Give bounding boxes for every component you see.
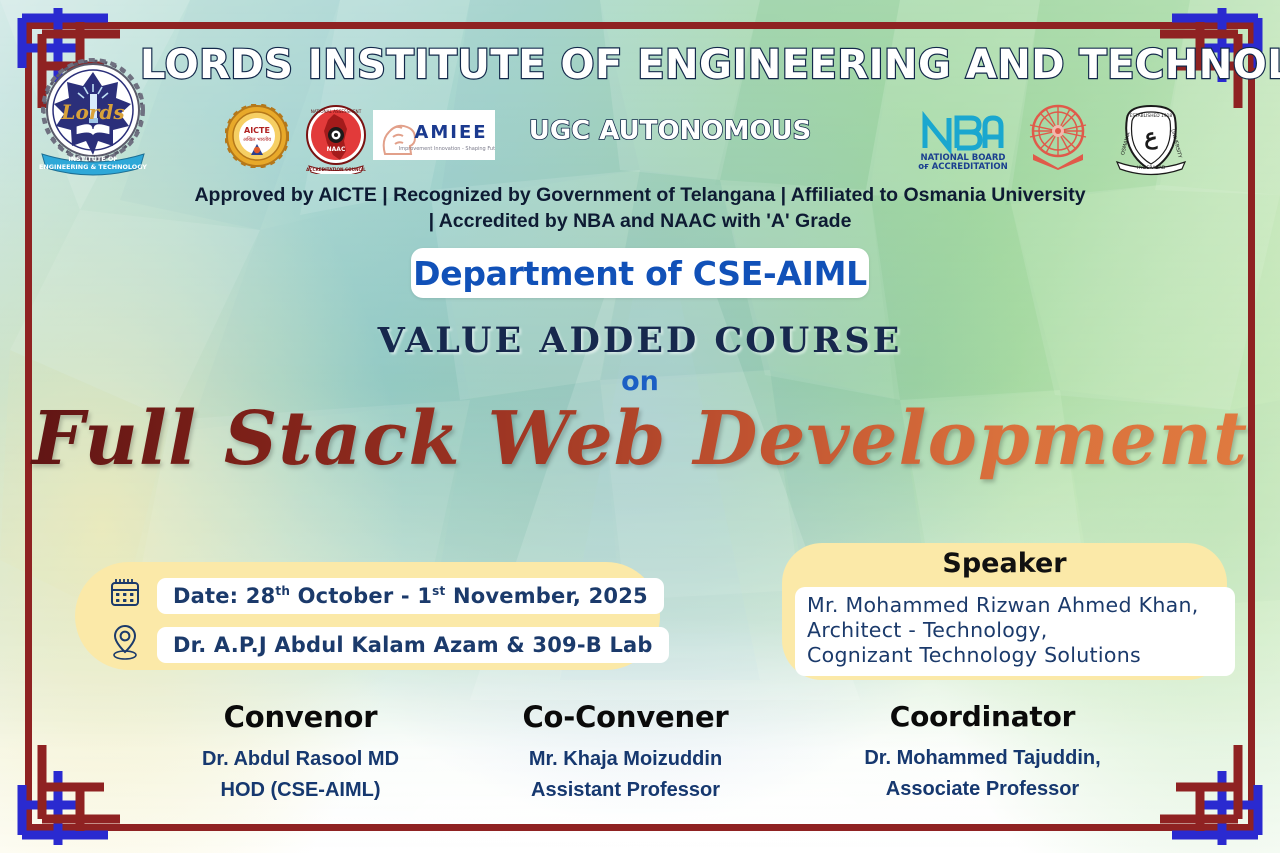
organizer-name-line-2: Associate Professor — [816, 774, 1149, 805]
organizer-coordinator: Coordinator Dr. Mohammed Tajuddin, Assoc… — [816, 700, 1149, 806]
lords-logo: Lords INSTITUTE OF ENGINEERING & TECHNOL… — [32, 56, 154, 178]
corner-ornament-bottom-right — [1154, 739, 1272, 849]
approval-line-2: | Accredited by NBA and NAAC with 'A' Gr… — [120, 208, 1160, 234]
date-venue-card: Date: 28th October - 1st November, 2025 … — [75, 562, 660, 670]
department-label: Department of CSE-AIML — [413, 254, 867, 293]
organizer-title: Coordinator — [816, 700, 1149, 733]
svg-text:ESTABLISHED 1918: ESTABLISHED 1918 — [1130, 113, 1173, 119]
institute-name: LORDS INSTITUTE OF ENGINEERING AND TECHN… — [140, 42, 1250, 88]
corner-ornament-bottom-left — [8, 739, 126, 849]
organizer-name-line-2: HOD (CSE-AIML) — [134, 775, 467, 806]
amiee-logo: AMIEE Improvement Innovation - Shaping F… — [373, 110, 495, 165]
date-pill: Date: 28th October - 1st November, 2025 — [157, 578, 664, 614]
event-connector: on — [0, 366, 1280, 397]
date-text: Date: 28th October - 1st November, 2025 — [173, 584, 648, 608]
venue-pill: Dr. A.P.J Abdul Kalam Azam & 309-B Lab — [157, 627, 669, 663]
ugc-autonomous-badge: UGC AUTONOMOUS — [525, 116, 815, 146]
osmania-logo: ESTABLISHED 1918 ع OSMANIA UNIVERSITY HY… — [1113, 100, 1189, 181]
organizer-name: Mr. Khaja Moizuddin Assistant Professor — [459, 744, 792, 806]
svg-text:Improvement Innovation - Shapi: Improvement Innovation - Shaping Future — [399, 146, 495, 152]
calendar-icon — [107, 575, 143, 616]
nba-logo: NATIONAL BOARD ᴏғ ACCREDITATION — [915, 104, 1011, 177]
svg-text:ENGINEERING & TECHNOLOGY: ENGINEERING & TECHNOLOGY — [39, 163, 147, 171]
organizer-name-line-1: Mr. Khaja Moizuddin — [459, 744, 792, 775]
venue-text: Dr. A.P.J Abdul Kalam Azam & 309-B Lab — [173, 633, 653, 657]
organizer-name-line-2: Assistant Professor — [459, 775, 792, 806]
svg-text:अखिल भारतीय: अखिल भारतीय — [243, 136, 271, 143]
approval-line-1: Approved by AICTE | Recognized by Govern… — [120, 182, 1160, 208]
organizer-title: Co-Convener — [459, 700, 792, 734]
speaker-name: Mr. Mohammed Rizwan Ahmed Khan, — [807, 593, 1223, 618]
svg-text:INSTITUTE OF: INSTITUTE OF — [68, 155, 117, 163]
approval-text: Approved by AICTE | Recognized by Govern… — [120, 182, 1160, 234]
organizer-name-line-1: Dr. Abdul Rasool MD — [134, 744, 467, 775]
event-kind: VALUE ADDED COURSE — [0, 320, 1280, 361]
organizer-title: Convenor — [134, 700, 467, 734]
venue-row: Dr. A.P.J Abdul Kalam Azam & 309-B Lab — [107, 622, 669, 667]
svg-text:ع: ع — [1144, 124, 1158, 150]
organizer-name: Dr. Mohammed Tajuddin, Associate Profess… — [816, 743, 1149, 805]
svg-text:Lords: Lords — [60, 100, 124, 124]
date-row: Date: 28th October - 1st November, 2025 — [107, 575, 664, 616]
speaker-role: Architect - Technology, — [807, 618, 1223, 643]
organizers-row: Convenor Dr. Abdul Rasool MD HOD (CSE-AI… — [150, 700, 1150, 806]
aicte-logo: AICTE अखिल भारतीय — [225, 104, 289, 173]
location-pin-icon — [107, 622, 143, 667]
speaker-card: Speaker Mr. Mohammed Rizwan Ahmed Khan, … — [782, 543, 1227, 680]
poster-canvas: LORDS INSTITUTE OF ENGINEERING AND TECHN… — [0, 0, 1280, 853]
svg-text:ᴏғ ACCREDITATION: ᴏғ ACCREDITATION — [918, 162, 1007, 172]
department-badge: Department of CSE-AIML — [411, 248, 869, 298]
organizer-co-convener: Co-Convener Mr. Khaja Moizuddin Assistan… — [459, 700, 792, 806]
organizer-name-line-1: Dr. Mohammed Tajuddin, — [816, 743, 1149, 774]
svg-text:AMIEE: AMIEE — [414, 122, 487, 143]
svg-text:NATIONAL ASSESSMENT: NATIONAL ASSESSMENT — [311, 109, 362, 114]
svg-text:ACCREDITATION COUNCIL: ACCREDITATION COUNCIL — [306, 167, 366, 172]
svg-text:AICTE: AICTE — [244, 126, 270, 135]
speaker-company: Cognizant Technology Solutions — [807, 643, 1223, 668]
naac-logo: NAAC NATIONAL ASSESSMENT ACCREDITATION C… — [301, 104, 371, 179]
course-title: Full Stack Web Development — [0, 396, 1280, 482]
organizer-name: Dr. Abdul Rasool MD HOD (CSE-AIML) — [134, 744, 467, 806]
svg-text:NAAC: NAAC — [327, 146, 346, 153]
speaker-heading: Speaker — [782, 548, 1227, 579]
svg-text:HYDERABAD: HYDERABAD — [1137, 165, 1166, 171]
speaker-details: Mr. Mohammed Rizwan Ahmed Khan, Architec… — [795, 587, 1235, 676]
organizer-convenor: Convenor Dr. Abdul Rasool MD HOD (CSE-AI… — [134, 700, 467, 806]
ugc-logo — [1025, 104, 1091, 175]
